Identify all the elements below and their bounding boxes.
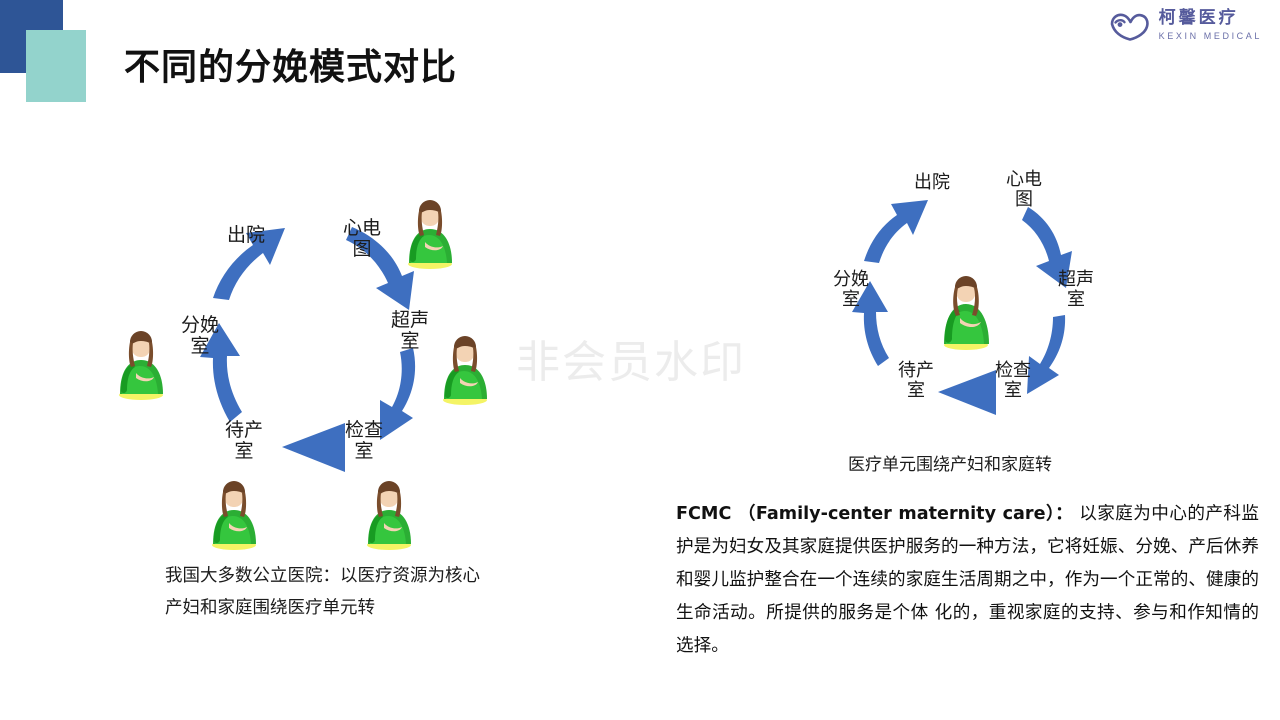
pregnant-woman-figure [203, 470, 265, 550]
node-label-discharge: 出院 [210, 225, 282, 246]
kexin-logo-mark-icon [1106, 11, 1150, 41]
node-label-exam-room: 检查 室 [992, 361, 1034, 401]
fcmc-description: FCMC （Family-center maternity care）： 以家庭… [676, 498, 1259, 663]
fcmc-body: 以家庭为中心的产科监护是为妇女及其家庭提供医护服务的一种方法，它将妊娠、分娩、产… [676, 504, 1259, 656]
caption-line: 我国大多数公立医院：以医疗资源为核心 [165, 560, 585, 592]
node-label-labor-room: 待产 室 [895, 361, 937, 401]
node-label-ecg: 心电 图 [340, 218, 384, 261]
node-label-labor-room: 待产 室 [222, 420, 266, 463]
node-label-ecg: 心电 图 [1003, 170, 1045, 210]
pregnant-woman-figure [358, 470, 420, 550]
pregnant-woman-figure [434, 325, 496, 405]
node-label-delivery-room: 分娩 室 [830, 270, 872, 310]
node-label-ultrasound-room: 超声 室 [1055, 270, 1097, 310]
arrow-delivery-to-discharge [864, 200, 928, 263]
brand-name-cn: 柯馨医疗 [1159, 10, 1262, 27]
decor-square-teal [26, 30, 86, 102]
caption-fcmc-cycle: 医疗单元围绕产妇和家庭转 [848, 450, 1052, 475]
pregnant-woman-figure [399, 189, 461, 269]
arrow-exam-to-labor [938, 370, 996, 415]
page-title: 不同的分娩模式对比 [124, 38, 457, 90]
brand-logo: 柯馨医疗 KEXIN MEDICAL [1106, 10, 1262, 41]
arrow-exam-to-labor [282, 423, 345, 472]
node-label-ultrasound-room: 超声 室 [388, 310, 432, 353]
brand-name-en: KEXIN MEDICAL [1159, 32, 1262, 41]
pregnant-woman-figure-center [935, 268, 997, 350]
diagram-public-hospital-cycle: 出院 心电 图 超声 室 检查 室 待产 室 分娩 室 [100, 170, 520, 560]
slide-root: 不同的分娩模式对比 柯馨医疗 KEXIN MEDICAL 非会员水印 [0, 0, 1280, 720]
pregnant-woman-figure [110, 320, 172, 400]
caption-public-hospital: 我国大多数公立医院：以医疗资源为核心 产妇和家庭围绕医疗单元转 [165, 560, 585, 625]
fcmc-heading: FCMC （Family-center maternity care）： [676, 504, 1073, 524]
diagram-fcmc-cycle: 出院 心电 图 超声 室 检查 室 待产 室 分娩 室 [800, 165, 1130, 445]
node-label-delivery-room: 分娩 室 [178, 315, 222, 358]
node-label-discharge: 出院 [898, 173, 966, 193]
node-label-exam-room: 检查 室 [342, 420, 386, 463]
watermark-text: 非会员水印 [516, 326, 746, 390]
caption-line: 产妇和家庭围绕医疗单元转 [165, 592, 585, 624]
